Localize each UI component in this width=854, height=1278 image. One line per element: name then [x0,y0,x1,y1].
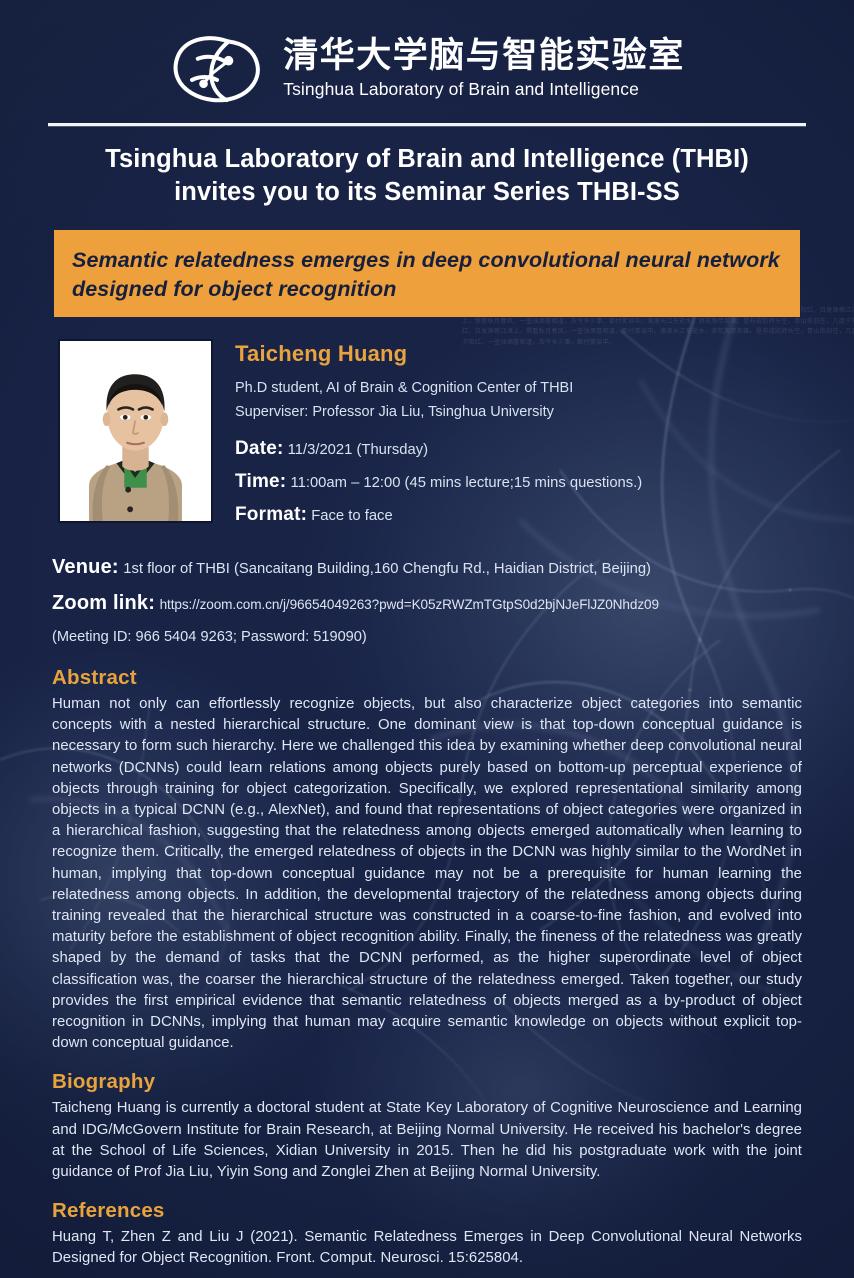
time-value: 11:00am – 12:00 (45 mins lecture;15 mins… [290,475,642,491]
date-label: Date: [235,438,284,459]
invite-line-1: Tsinghua Laboratory of Brain and Intelli… [37,143,817,176]
logo-english-name: Tsinghua Laboratory of Brain and Intelli… [283,81,685,99]
seminar-poster: 一生成就林不立，青山依旧在，惯看秋月春风一壶浊酒喜相逢，古今多少事，渔樵江诸上东… [0,0,854,1278]
biography-body: Taicheng Huang is currently a doctoral s… [52,1098,802,1183]
venue-row: Venue: 1st floor of THBI (Sancaitang Bui… [52,550,854,586]
header-divider [48,123,806,126]
speaker-affiliation: Ph.D student, AI of Brain & Cognition Ce… [235,376,854,400]
poster-header: 清华大学脑与智能实验室 Tsinghua Laboratory of Brain… [0,0,854,108]
biography-section: Biography Taicheng Huang is currently a … [52,1070,802,1183]
zoom-link-label: Zoom link: [52,592,155,614]
brain-outline-icon [169,30,265,108]
invite-headline: Tsinghua Laboratory of Brain and Intelli… [37,143,817,209]
references-heading: References [52,1199,802,1223]
talk-title: Semantic relatedness emerges in deep con… [72,246,780,303]
speaker-supervisor: Superviser: Professor Jia Liu, Tsinghua … [235,400,854,424]
abstract-body: Human not only can effortlessly recogniz… [52,694,802,1054]
format-value: Face to face [311,508,392,524]
biography-heading: Biography [52,1070,802,1094]
venue-label: Venue: [52,556,119,578]
speaker-name: Taicheng Huang [235,341,854,367]
talk-time-row: Time: 11:00am – 12:00 (45 mins lecture;1… [235,466,854,499]
talk-title-banner: Semantic relatedness emerges in deep con… [54,230,800,317]
abstract-heading: Abstract [52,666,802,690]
speaker-portrait [58,339,213,523]
references-body: Huang T, Zhen Z and Liu J (2021). Semant… [52,1227,802,1269]
date-value: 11/3/2021 (Thursday) [288,442,428,458]
meeting-id-info: (Meeting ID: 966 5404 9263; Password: 51… [52,622,854,652]
zoom-row: Zoom link: https://zoom.com.cn/j/9665404… [52,586,854,622]
venue-value: 1st floor of THBI (Sancaitang Building,1… [123,561,651,577]
speaker-section: Taicheng Huang Ph.D student, AI of Brain… [58,339,854,532]
zoom-link-url[interactable]: https://zoom.com.cn/j/96654049263?pwd=K0… [160,597,659,612]
references-section: References Huang T, Zhen Z and Liu J (20… [52,1199,802,1269]
logo-chinese-name: 清华大学脑与智能实验室 [283,39,685,74]
logistics-section: Venue: 1st floor of THBI (Sancaitang Bui… [52,550,854,652]
time-label: Time: [235,471,286,492]
format-label: Format: [235,504,307,525]
talk-format-row: Format: Face to face [235,499,854,532]
talk-date-row: Date: 11/3/2021 (Thursday) [235,433,854,466]
invite-line-2: invites you to its Seminar Series THBI-S… [37,176,817,209]
abstract-section: Abstract Human not only can effortlessly… [52,666,802,1054]
